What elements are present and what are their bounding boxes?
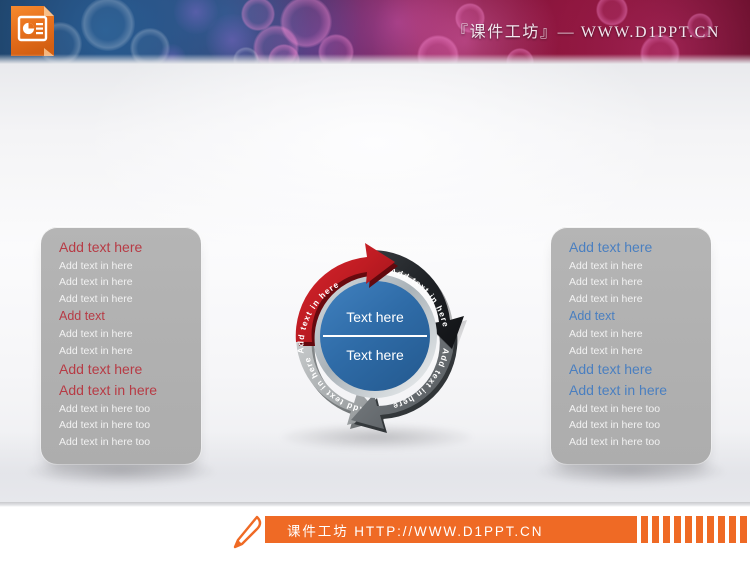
right-panel-line: Add text in here — [569, 380, 705, 401]
right-panel-line: Add text in here — [569, 291, 705, 307]
header-banner: 『课件工坊』— WWW.D1PPT.CN — [0, 0, 750, 64]
right-panel-line: Add text — [569, 307, 705, 326]
left-panel-line: Add text in here — [59, 343, 195, 359]
right-panel-line: Add text in here too — [569, 417, 705, 433]
footer-brand-text: 课件工坊 HTTP://WWW.D1PPT.CN — [287, 520, 543, 540]
left-panel-line: Add text here — [59, 237, 195, 258]
right-panel-line: Add text here — [569, 237, 705, 258]
left-panel-line: Add text in here — [59, 380, 195, 401]
footer-divider — [0, 502, 750, 507]
header-title: 『课件工坊』— WWW.D1PPT.CN — [452, 18, 720, 42]
left-panel-line: Add text in here too — [59, 434, 195, 450]
left-panel-line: Add text in here — [59, 326, 195, 342]
left-panel-text-block: Add text hereAdd text in hereAdd text in… — [59, 237, 195, 450]
footer-bar: 课件工坊 HTTP://WWW.D1PPT.CN — [0, 502, 750, 563]
left-panel-line: Add text — [59, 307, 195, 326]
powerpoint-logo-icon — [8, 4, 58, 58]
right-panel-line: Add text in here — [569, 274, 705, 290]
footer-brand-band: 课件工坊 HTTP://WWW.D1PPT.CN — [265, 516, 630, 543]
right-panel-text-block: Add text hereAdd text in hereAdd text in… — [569, 237, 705, 450]
pen-icon — [228, 512, 266, 552]
right-panel-line: Add text in here too — [569, 434, 705, 450]
left-panel-line: Add text here — [59, 359, 195, 380]
right-panel-line: Add text here — [569, 359, 705, 380]
left-text-panel[interactable]: Add text hereAdd text in hereAdd text in… — [41, 227, 201, 464]
left-panel-line: Add text in here too — [59, 417, 195, 433]
left-panel-line: Add text in here — [59, 258, 195, 274]
right-panel-line: Add text in here — [569, 343, 705, 359]
header-fade — [0, 54, 750, 64]
right-panel-line: Add text in here — [569, 258, 705, 274]
center-text-line-1: Text here — [346, 309, 404, 325]
right-panel-line: Add text in here — [569, 326, 705, 342]
left-panel-line: Add text in here — [59, 274, 195, 290]
footer-stripes — [630, 516, 750, 543]
right-panel-line: Add text in here too — [569, 401, 705, 417]
center-text-line-2: Text here — [346, 347, 404, 363]
left-panel-line: Add text in here too — [59, 401, 195, 417]
circular-arrow-diagram[interactable]: Add text in here Add text in here Add te… — [268, 224, 482, 452]
left-panel-line: Add text in here — [59, 291, 195, 307]
right-text-panel[interactable]: Add text hereAdd text in hereAdd text in… — [551, 227, 711, 464]
slide-stage: Add text hereAdd text in hereAdd text in… — [0, 64, 750, 502]
